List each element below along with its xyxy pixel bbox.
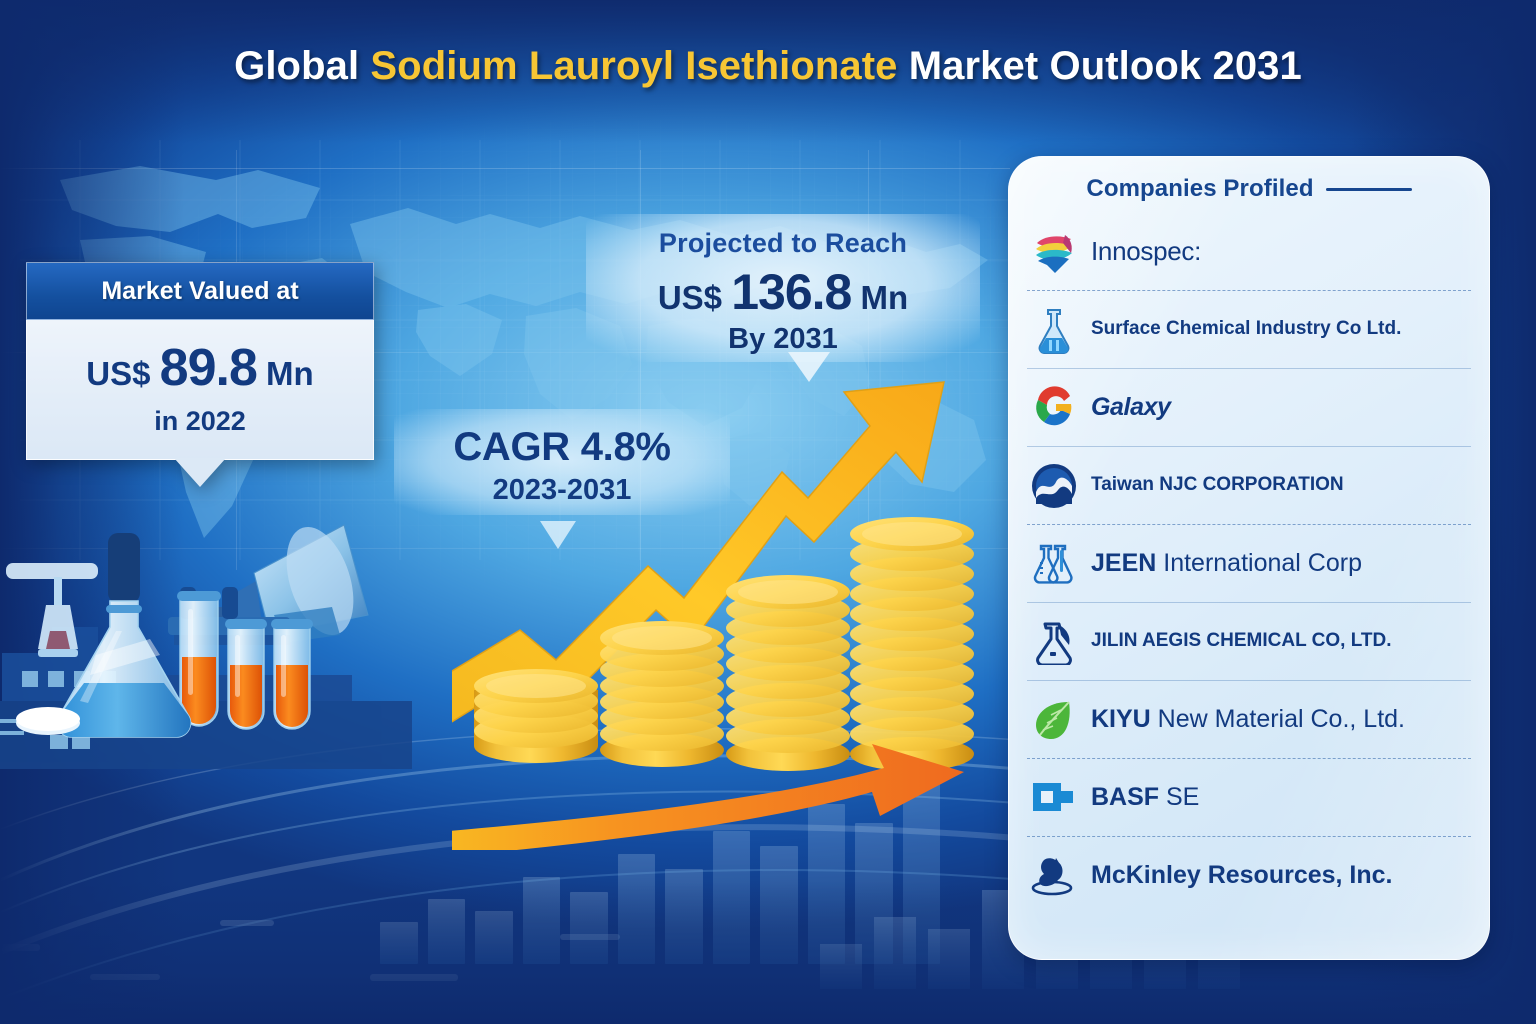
title-highlight: Sodium Lauroyl Isethionate — [370, 44, 897, 88]
company-name-rest: NJC CORPORATION — [1154, 474, 1344, 495]
market-value-callout: Market Valued at US$ 89.8 Mn in 2022 — [26, 262, 374, 460]
companies-list: Innospec: Surface Chemical Industry Co L… — [1027, 213, 1471, 915]
company-name: JILIN AEGIS CHEMICAL CO, LTD. — [1091, 631, 1392, 652]
projected-currency: US$ — [658, 279, 731, 316]
page-title: Global Sodium Lauroyl Isethionate Market… — [0, 44, 1536, 89]
market-value-number: 89.8 — [160, 339, 257, 397]
projected-label: Projected to Reach — [596, 228, 970, 259]
company-name: Galaxy — [1091, 394, 1171, 422]
coin-stack-1 — [474, 669, 598, 763]
list-item[interactable]: Surface Chemical Industry Co Ltd. — [1027, 291, 1471, 369]
list-item[interactable]: JEEN International Corp — [1027, 525, 1471, 603]
market-value-amount: US$ 89.8 Mn — [39, 342, 361, 394]
leaf-icon — [1029, 695, 1079, 745]
projected-amount: US$ 136.8 Mn — [596, 263, 970, 321]
market-value-body: US$ 89.8 Mn in 2022 — [26, 320, 374, 460]
wave-circle-icon — [1029, 461, 1079, 511]
beaker-icon — [1029, 617, 1079, 667]
infographic-canvas: 1 Global Sodium Lauroyl Isethionate Mark… — [0, 0, 1536, 1024]
company-name: McKinley Resources, Inc. — [1091, 862, 1393, 890]
company-name-bold: BASF — [1091, 783, 1159, 811]
company-name-bold: KIYU — [1091, 705, 1151, 733]
companies-profiled-panel: Companies Profiled — [1008, 156, 1490, 960]
title-part-2: Market Outlook 2031 — [898, 44, 1302, 88]
coin-stacks-chart — [452, 330, 1012, 850]
list-item[interactable]: BASF SE — [1027, 759, 1471, 837]
list-item[interactable]: KIYU New Material Co., Ltd. — [1027, 681, 1471, 759]
list-item[interactable]: McKinley Resources, Inc. — [1027, 837, 1471, 915]
company-name: Taiwan NJC CORPORATION — [1091, 475, 1344, 496]
coin-stack-2 — [600, 621, 724, 767]
companies-panel-title: Companies Profiled — [1086, 175, 1313, 203]
basf-logo-icon — [1029, 773, 1079, 823]
company-name: Innospec: — [1091, 237, 1201, 266]
market-value-header: Market Valued at — [26, 262, 374, 320]
innospec-logo-icon — [1029, 227, 1079, 277]
callout-pointer — [174, 458, 226, 487]
test-tube-2 — [225, 619, 267, 729]
company-name: JEEN International Corp — [1091, 550, 1362, 578]
coin-stack-3 — [726, 575, 850, 771]
lab-equipment-illustration — [0, 505, 412, 905]
company-name-rest: International Corp — [1156, 549, 1362, 577]
company-name: Surface Chemical Industry Co Ltd. — [1091, 319, 1401, 340]
list-item[interactable]: JILIN AEGIS CHEMICAL CO, LTD. — [1027, 603, 1471, 681]
company-name-rest: SE — [1159, 783, 1199, 811]
petri-dish-icon — [16, 707, 80, 735]
company-name: KIYU New Material Co., Ltd. — [1091, 706, 1405, 734]
list-item[interactable]: Galaxy — [1027, 369, 1471, 447]
mckinley-logo-icon — [1029, 851, 1079, 901]
list-item[interactable]: Innospec: — [1027, 213, 1471, 291]
projected-number: 136.8 — [731, 264, 851, 320]
double-flask-icon — [1029, 539, 1079, 589]
market-value-currency: US$ — [86, 355, 159, 392]
list-item[interactable]: Taiwan NJC CORPORATION — [1027, 447, 1471, 525]
galaxy-logo-icon — [1029, 383, 1079, 433]
market-value-unit: Mn — [257, 355, 314, 392]
companies-panel-header: Companies Profiled — [1027, 171, 1471, 213]
company-name-rest: New Material Co., Ltd. — [1151, 705, 1405, 733]
test-tube-3 — [271, 619, 313, 729]
title-part-1: Global — [234, 44, 370, 88]
header-rule — [1326, 188, 1412, 191]
company-name-bold: JEEN — [1091, 549, 1156, 577]
market-value-year: in 2022 — [39, 406, 361, 437]
coin-stack-4 — [850, 517, 974, 771]
company-name-bold: Taiwan — [1091, 474, 1154, 495]
flask-icon — [1029, 305, 1079, 355]
company-name: BASF SE — [1091, 784, 1199, 812]
projected-unit: Mn — [851, 279, 908, 316]
